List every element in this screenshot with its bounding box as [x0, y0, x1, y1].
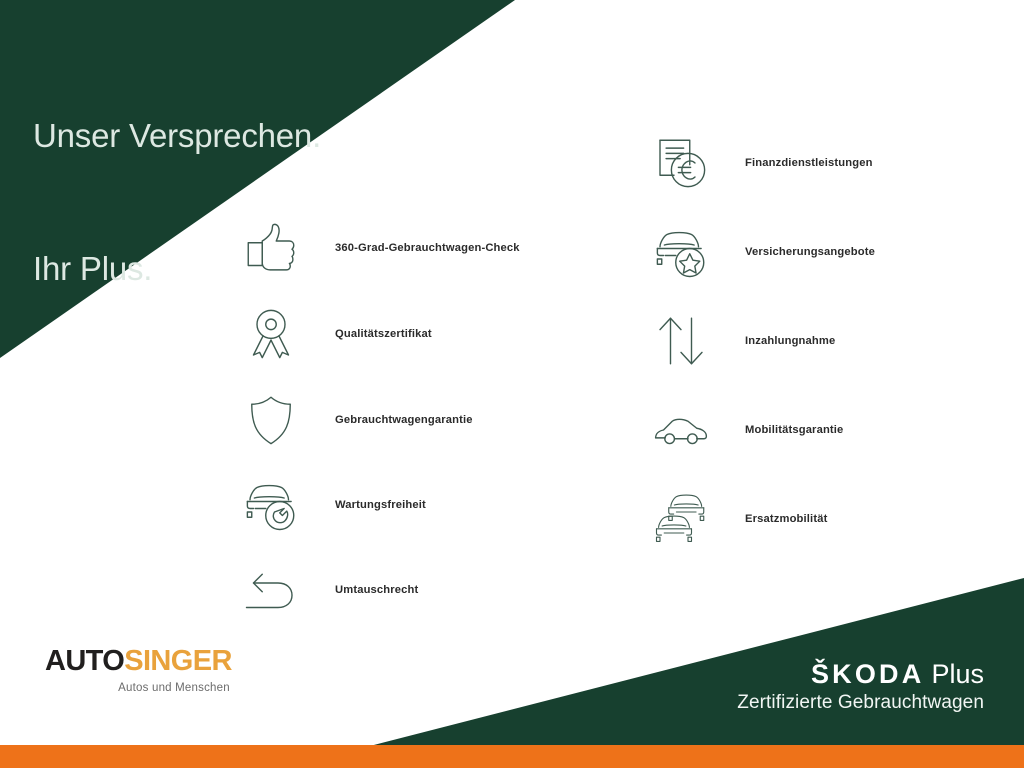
brand-mark-suffix: Plus: [931, 659, 984, 689]
feature-item-warranty: Gebrauchtwagengarantie: [240, 377, 600, 463]
two-cars-icon: [650, 488, 712, 550]
feature-label: Ersatzmobilität: [745, 513, 827, 525]
shield-icon: [240, 389, 302, 451]
feature-label: Inzahlungnahme: [745, 335, 835, 347]
up-down-arrows-icon: [650, 310, 712, 372]
feature-list-left: 360-Grad-Gebrauchtwagen-Check Qualitätsz…: [240, 205, 600, 633]
brand-logo-primary-line: ŠKODAPlus: [737, 660, 984, 688]
feature-item-trade-in: Inzahlungnahme: [650, 296, 1020, 385]
page-title-line-1: Unser Versprechen.: [33, 114, 321, 158]
feature-item-maintenance-free: Wartungsfreiheit: [240, 463, 600, 547]
promo-banner: Unser Versprechen. Ihr Plus. 360-Grad-Ge…: [0, 0, 1024, 768]
brand-logo: ŠKODAPlus Zertifizierte Gebrauchtwagen: [737, 660, 984, 714]
brand-mark: ŠKODA: [811, 659, 925, 689]
dealer-wordmark-primary: AUTO: [45, 645, 124, 677]
feature-item-insurance-offers: Versicherungsangebote: [650, 207, 1020, 296]
dealer-wordmark-secondary: SINGER: [124, 645, 232, 677]
thumbs-up-icon: [240, 217, 302, 279]
award-ribbon-icon: [240, 303, 302, 365]
feature-label: Qualitätszertifikat: [335, 328, 432, 340]
feature-label: Versicherungsangebote: [745, 246, 875, 258]
feature-item-quality-certificate: Qualitätszertifikat: [240, 291, 600, 377]
dealer-wordmark: AUTOSINGER: [45, 647, 232, 676]
feature-item-mobility-guarantee: Mobilitätsgarantie: [650, 385, 1020, 474]
feature-item-financial-services: Finanzdienstleistungen: [650, 118, 1020, 207]
car-wrench-icon: [240, 474, 302, 536]
document-euro-icon: [650, 132, 712, 194]
car-star-icon: [650, 221, 712, 283]
brand-tagline: Zertifizierte Gebrauchtwagen: [737, 692, 984, 714]
feature-label: Mobilitätsgarantie: [745, 424, 843, 436]
feature-item-exchange-right: Umtauschrecht: [240, 547, 600, 633]
feature-label: Gebrauchtwagengarantie: [335, 414, 473, 426]
car-side-icon: [650, 399, 712, 461]
dealer-tagline: Autos und Menschen: [45, 682, 232, 694]
return-arrow-icon: [240, 559, 302, 621]
dealer-logo: AUTOSINGER Autos und Menschen: [45, 647, 232, 694]
feature-label: Umtauschrecht: [335, 584, 418, 596]
feature-item-360-check: 360-Grad-Gebrauchtwagen-Check: [240, 205, 600, 291]
orange-accent-bar: [0, 745, 1024, 768]
feature-label: Wartungsfreiheit: [335, 499, 426, 511]
feature-label: Finanzdienstleistungen: [745, 157, 873, 169]
feature-item-replacement-mobility: Ersatzmobilität: [650, 474, 1020, 563]
feature-label: 360-Grad-Gebrauchtwagen-Check: [335, 242, 520, 254]
feature-list-right: Finanzdienstleistungen Versicherungsange…: [650, 118, 1020, 563]
